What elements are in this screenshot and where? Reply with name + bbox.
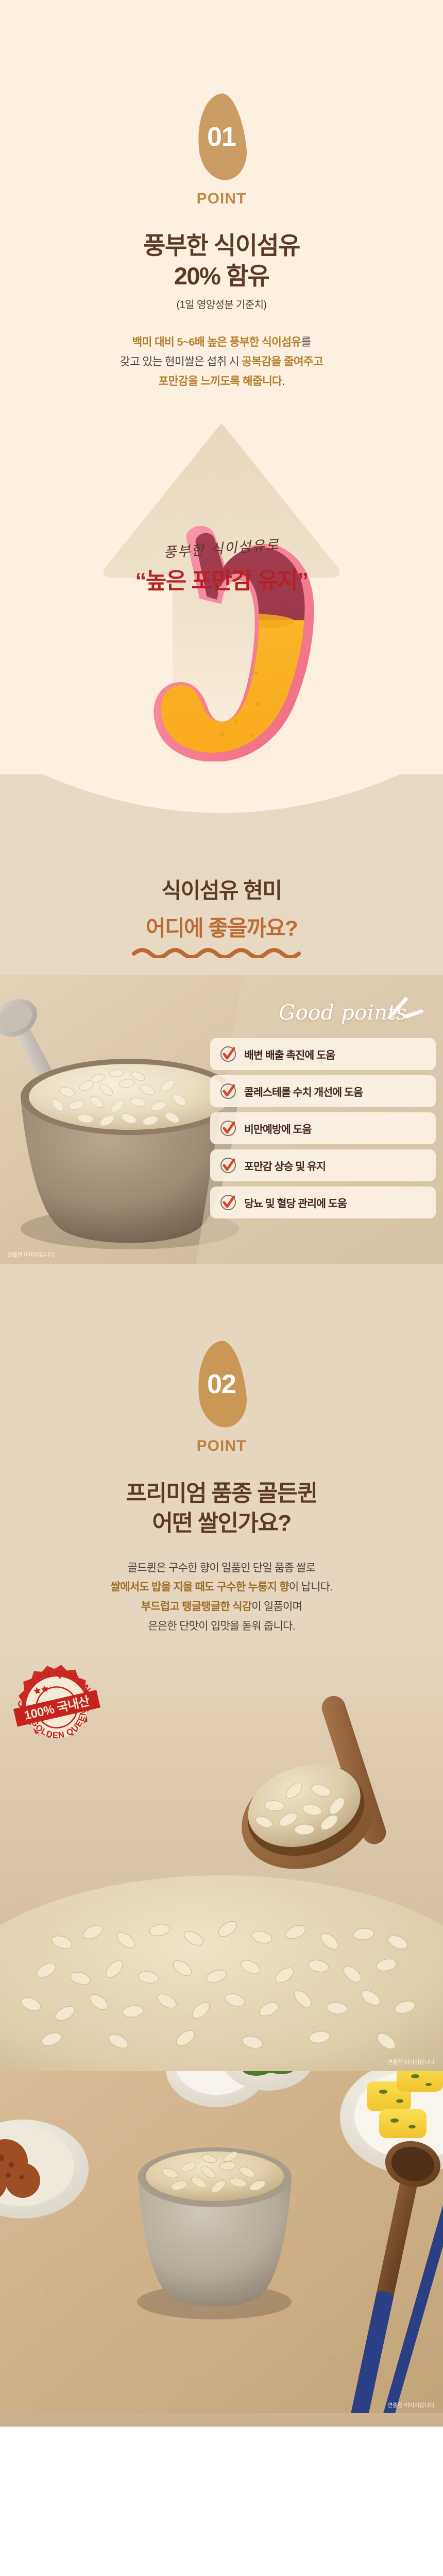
list-item-label: 당뇨 및 혈당 관리에 도움 <box>244 1195 347 1210</box>
list-item: 당뇨 및 혈당 관리에 도움 <box>210 1187 436 1218</box>
body-plain: 갖고 있는 현미쌀은 섭취 시 <box>120 355 242 368</box>
body-line-1: 백미 대비 5~6배 높은 풍부한 식이섬유를 <box>0 333 443 352</box>
body-line-3: 부드럽고 탱글탱글한 식감이 일품이며 <box>0 1597 443 1617</box>
headline-subnote: (1일 영양성분 기준치) <box>0 296 443 311</box>
point-02-headline: 프리미엄 품종 골든퀸 어떤 쌀인가요? <box>0 1479 443 1537</box>
check-circle-icon <box>219 1194 237 1211</box>
body-emphasis: 쌀에서도 밥을 지을 때도 구수한 누룽지 향 <box>111 1581 289 1593</box>
body-plain: 이 납니다. <box>289 1581 332 1593</box>
check-circle-icon <box>219 1045 237 1063</box>
point-label: POINT <box>0 1437 443 1455</box>
list-item: 배변 배출 촉진에 도움 <box>210 1038 436 1070</box>
headline-line-1: 풍부한 식이섬유 <box>0 230 443 261</box>
body-plain: . <box>282 375 284 387</box>
check-circle-icon <box>219 1157 237 1174</box>
body-plain: 를 <box>301 336 311 348</box>
point-number: 02 <box>198 1369 245 1400</box>
list-item-label: 포만감 상승 및 유지 <box>244 1158 326 1173</box>
body-plain: 이 일품이며 <box>251 1601 302 1613</box>
fiber-question-block: 어디에 좋을까요? <box>132 911 311 958</box>
section-fiber-benefits: 식이섬유 현미 어디에 좋을까요? <box>0 774 443 1264</box>
body-line-1: 골드퀸은 구수한 향이 일품인 단일 품종 쌀로 <box>0 1558 443 1578</box>
quote-headline: “높은 포만감 유지” <box>0 562 443 595</box>
blob-shape-icon: 02 <box>193 1339 249 1430</box>
list-item-label: 배변 배출 촉진에 도움 <box>244 1046 335 1062</box>
body-line-3: 포만감을 느끼도록 해줍니다. <box>0 372 443 392</box>
point-02-body: 골드퀸은 구수한 향이 일품인 단일 품종 쌀로 쌀에서도 밥을 지을 때도 구… <box>0 1558 443 1636</box>
rice-bowl-photo-block: Good points 배변 배출 촉진에 도움 콜레스테롤 수치 개선에 도움 <box>0 975 443 1264</box>
body-line-4: 은은한 단맛이 입맛을 돋워 줍니다. <box>0 1617 443 1636</box>
section-point-02: 02 POINT 프리미엄 품종 골든퀸 어떤 쌀인가요? 골드퀸은 구수한 향… <box>0 1264 443 2071</box>
fiber-headline-block: 식이섬유 현미 어디에 좋을까요? <box>0 839 443 958</box>
fiber-question: 어디에 좋을까요? <box>132 911 311 942</box>
headline-line-2: 20% 함유 <box>0 261 443 291</box>
section-table-setting-photo: 연출된 이미지입니다. <box>0 2071 443 2427</box>
image-disclaimer: 연출된 이미지입니다. <box>7 1250 56 1259</box>
headline-line-1: 프리미엄 품종 골든퀸 <box>0 1479 443 1508</box>
point-label: POINT <box>0 190 443 208</box>
point-01-body: 백미 대비 5~6배 높은 풍부한 식이섬유를 갖고 있는 현미쌀은 섭취 시 … <box>0 333 443 391</box>
list-item-label: 비만예방에 도움 <box>244 1121 312 1136</box>
list-item: 포만감 상승 및 유지 <box>210 1149 436 1181</box>
point-01-headline: 풍부한 식이섬유 20% 함유 (1일 영양성분 기준치) <box>0 230 443 311</box>
image-disclaimer: 연출된 이미지입니다. <box>387 2058 436 2066</box>
point-02-badge: 02 POINT <box>0 1341 443 1455</box>
curved-divider <box>0 774 443 839</box>
body-emphasis: 부드럽고 탱글탱글한 식감 <box>141 1601 251 1613</box>
headline-line-2: 어떤 쌀인가요? <box>0 1509 443 1538</box>
wavy-underline-icon <box>132 944 311 958</box>
body-line-2: 쌀에서도 밥을 지을 때도 구수한 누룽지 향이 납니다. <box>0 1578 443 1597</box>
list-item: 콜레스테롤 수치 개선에 도움 <box>210 1075 436 1107</box>
product-detail-page: 01 POINT 풍부한 식이섬유 20% 함유 (1일 영양성분 기준치) 백… <box>0 0 443 2427</box>
body-emphasis: 백미 대비 5~6배 높은 풍부한 식이섬유 <box>132 336 301 348</box>
benefit-list: 배변 배출 촉진에 도움 콜레스테롤 수치 개선에 도움 비만예방에 도움 <box>210 1038 436 1218</box>
image-disclaimer: 연출된 이미지입니다. <box>387 2401 436 2409</box>
body-emphasis: 포만감을 느끼도록 해줍니다 <box>159 375 282 387</box>
section-point-01: 01 POINT 풍부한 식이섬유 20% 함유 (1일 영양성분 기준치) 백… <box>0 0 443 774</box>
body-emphasis: 공복감을 줄여주고 <box>242 355 323 368</box>
check-circle-icon <box>219 1120 237 1137</box>
list-item: 비만예방에 도움 <box>210 1112 436 1144</box>
point-number: 01 <box>198 122 245 152</box>
table-setting-photo <box>0 2071 443 2427</box>
good-points-label: Good points <box>279 1001 407 1025</box>
point-01-badge: 01 POINT <box>0 94 443 208</box>
fiber-headline: 식이섬유 현미 <box>0 873 443 905</box>
point-01-illustration: 풍부한 식이섬유로 “높은 포만감 유지” <box>0 414 443 774</box>
body-line-2: 갖고 있는 현미쌀은 섭취 시 공복감을 줄여주고 <box>0 352 443 372</box>
spoon-rice-photo-block: GOLDEN QUEEN GOLDEN QUEEN 100% 국내산 연출된 이… <box>0 1654 443 2071</box>
check-circle-icon <box>219 1082 237 1100</box>
list-item-label: 콜레스테롤 수치 개선에 도움 <box>244 1083 363 1099</box>
blob-shape-icon: 01 <box>193 92 249 183</box>
